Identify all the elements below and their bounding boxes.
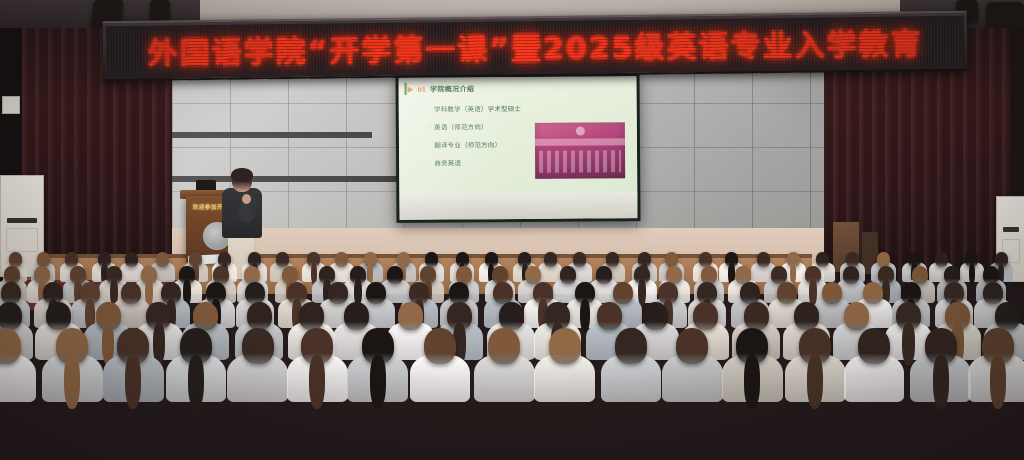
audience-member-head bbox=[846, 252, 859, 267]
audience-member-head bbox=[560, 266, 576, 284]
wall-box bbox=[2, 96, 20, 114]
audience-member-head bbox=[995, 302, 1020, 330]
screen-glare bbox=[399, 76, 638, 220]
audience-member-head bbox=[525, 266, 541, 284]
audience-member-head bbox=[242, 328, 274, 364]
projection-screen: 01 学院概况介绍 ·学科教学（英语）学术型硕士 ·英语（师范方向） ·翻译专业… bbox=[395, 73, 640, 223]
audience-member-head bbox=[156, 252, 169, 267]
audience-member-head bbox=[398, 302, 423, 330]
audience-member-head bbox=[858, 328, 890, 364]
audience-member-head bbox=[844, 302, 869, 330]
audience-member-head bbox=[596, 266, 612, 284]
ponytail bbox=[309, 355, 325, 409]
audience-member-head bbox=[549, 328, 581, 364]
audience-member-head bbox=[1, 282, 21, 304]
ponytail bbox=[64, 355, 80, 409]
audience-member-head bbox=[643, 302, 668, 330]
speaker-hair bbox=[231, 168, 253, 182]
lecture-hall-photo: 01 学院概况介绍 ·学科教学（英语）学术型硕士 ·英语（师范方向） ·翻译专业… bbox=[0, 0, 1024, 460]
ponytail bbox=[744, 355, 760, 409]
audience-member-head bbox=[744, 302, 769, 330]
audience-member-head bbox=[935, 252, 948, 267]
audience-member-head bbox=[983, 282, 1003, 304]
audience-member-head bbox=[247, 302, 272, 330]
audience-member-head bbox=[366, 282, 386, 304]
audience-member-head bbox=[193, 302, 218, 330]
audience-member-head bbox=[613, 282, 633, 304]
led-banner: 外国语学院“开学第一课”暨2025级英语专业入学教育 bbox=[103, 11, 968, 82]
audience-member-head bbox=[863, 282, 883, 304]
audience-member-head bbox=[125, 252, 138, 267]
ponytail bbox=[933, 355, 949, 409]
ponytail bbox=[969, 263, 976, 285]
ponytail bbox=[188, 355, 204, 409]
audience-member-head bbox=[344, 302, 369, 330]
audience-member-head bbox=[328, 282, 348, 304]
audience-member-head bbox=[757, 252, 770, 267]
audience-member-head bbox=[606, 252, 619, 267]
audience-member-head bbox=[615, 328, 647, 364]
ponytail bbox=[902, 323, 915, 365]
audience-member-head bbox=[46, 302, 71, 330]
ac-vent bbox=[1003, 227, 1019, 232]
audience-member-head bbox=[0, 302, 22, 330]
audience-member-head bbox=[676, 328, 708, 364]
audience-member-head bbox=[245, 282, 265, 304]
audience-member-head bbox=[693, 302, 718, 330]
audience-member-head bbox=[699, 252, 712, 267]
audience-member-head bbox=[299, 302, 324, 330]
led-banner-text: 外国语学院“开学第一课”暨2025级英语专业入学教育 bbox=[147, 19, 922, 72]
audience-member-head bbox=[65, 252, 78, 267]
audience-member-head bbox=[822, 282, 842, 304]
audience-member-head bbox=[597, 302, 622, 330]
audience-member-head bbox=[425, 252, 438, 267]
led-panel: 外国语学院“开学第一课”暨2025级英语专业入学教育 bbox=[106, 16, 965, 76]
audience-member-head bbox=[777, 282, 797, 304]
audience-member-head bbox=[9, 252, 22, 267]
audience-member-head bbox=[424, 328, 456, 364]
audience-member-head bbox=[499, 302, 524, 330]
audience-member-head bbox=[488, 328, 520, 364]
audience-member-head bbox=[387, 266, 403, 284]
audience-member-head bbox=[816, 252, 829, 267]
ponytail bbox=[990, 355, 1006, 409]
audience-member-head bbox=[544, 252, 557, 267]
speaker-hand bbox=[242, 194, 251, 204]
audience-member-head bbox=[335, 252, 348, 267]
audience-member-head bbox=[276, 252, 289, 267]
audience-area bbox=[0, 246, 1024, 460]
audience-member-head bbox=[843, 266, 859, 284]
audience-member-head bbox=[573, 252, 586, 267]
ponytail bbox=[807, 355, 823, 409]
ac-vent bbox=[7, 218, 37, 223]
ponytail bbox=[125, 355, 141, 409]
audience-member-head bbox=[794, 302, 819, 330]
ponytail bbox=[370, 355, 386, 409]
audience-member-head bbox=[121, 282, 141, 304]
audience-member-head bbox=[912, 266, 928, 284]
